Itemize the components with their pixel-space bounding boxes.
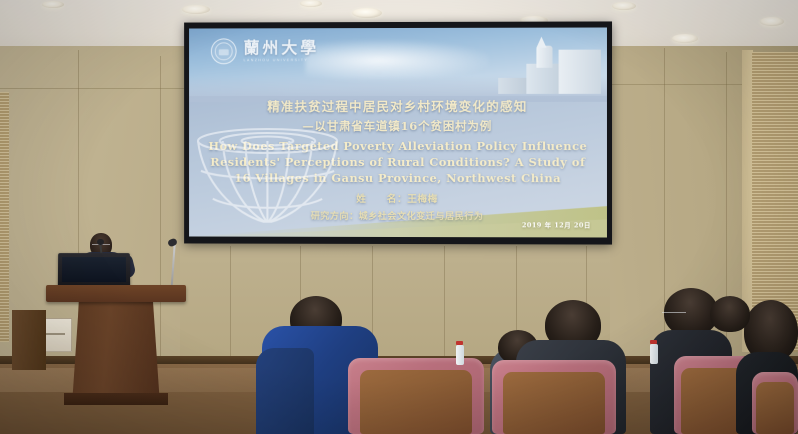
wall-panel-seam: [612, 84, 744, 85]
podium-base: [64, 393, 168, 405]
building-tower: [536, 46, 552, 68]
downlight-icon: [612, 2, 636, 10]
downlight-icon: [42, 1, 64, 8]
globe-graphic: [193, 119, 342, 223]
audience-glasses-icon: [662, 312, 686, 318]
university-logo-text: 蘭州大學 LANZHOU UNIVERSITY: [244, 40, 320, 63]
building-spire-icon: [536, 37, 546, 48]
research-field: 城乡社会文化变迁与居民行为: [359, 212, 484, 222]
university-name-en: LANZHOU UNIVERSITY: [244, 59, 320, 63]
university-seal-icon: [211, 38, 237, 64]
podium-top: [46, 285, 186, 302]
university-logo: 蘭州大學 LANZHOU UNIVERSITY: [211, 38, 319, 64]
wall-panel-seam: [444, 246, 445, 358]
downlight-icon: [672, 34, 698, 43]
research-label: 研究方向：: [311, 212, 359, 222]
podium: [46, 285, 186, 405]
campus-building-graphic: [496, 36, 605, 94]
podium-body: [72, 301, 160, 405]
auditorium-chair: [348, 358, 484, 434]
auditorium-chair: [752, 372, 798, 434]
auditorium-chair: [492, 360, 616, 434]
chair-seatback: [503, 372, 605, 434]
chair-seatback: [360, 370, 472, 434]
building-block: [526, 64, 560, 94]
downlight-icon: [760, 17, 784, 26]
presenter-label: 姓 名：: [356, 194, 407, 205]
side-table: [12, 310, 46, 370]
downlight-icon: [182, 5, 210, 14]
water-bottle: [650, 344, 658, 364]
presenter-row: 姓 名：王梅梅: [189, 191, 607, 206]
wall-panel-seam: [0, 88, 184, 89]
slide-date: 2019 年 12月 20日: [522, 220, 591, 229]
audience-head: [710, 296, 750, 332]
presentation-photo: 蘭州大學 LANZHOU UNIVERSITY 精准扶贫过程中居民对乡村环境变化…: [0, 0, 798, 434]
university-name-cn: 蘭州大學: [244, 40, 320, 56]
audience-torso-shoulder: [256, 348, 314, 434]
building-wing: [498, 78, 526, 94]
building-block: [559, 50, 601, 94]
presenter-laptop: [58, 253, 130, 287]
slide-canvas: 蘭州大學 LANZHOU UNIVERSITY 精准扶贫过程中居民对乡村环境变化…: [189, 27, 607, 237]
chair-seatback: [756, 382, 794, 434]
slide-title-cn: 精准扶贫过程中居民对乡村环境变化的感知: [189, 96, 607, 115]
projection-screen: 蘭州大學 LANZHOU UNIVERSITY 精准扶贫过程中居民对乡村环境变化…: [184, 21, 612, 244]
handheld-microphone-icon: [97, 239, 104, 245]
water-bottle: [456, 345, 464, 365]
wall-panel-seam: [230, 246, 231, 358]
downlight-icon: [352, 8, 382, 18]
globe-wireframe-icon: [193, 119, 342, 223]
presenter-name: 王梅梅: [407, 194, 438, 205]
ribbed-acoustic-panel-left: [0, 92, 9, 342]
downlight-icon: [300, 0, 322, 7]
